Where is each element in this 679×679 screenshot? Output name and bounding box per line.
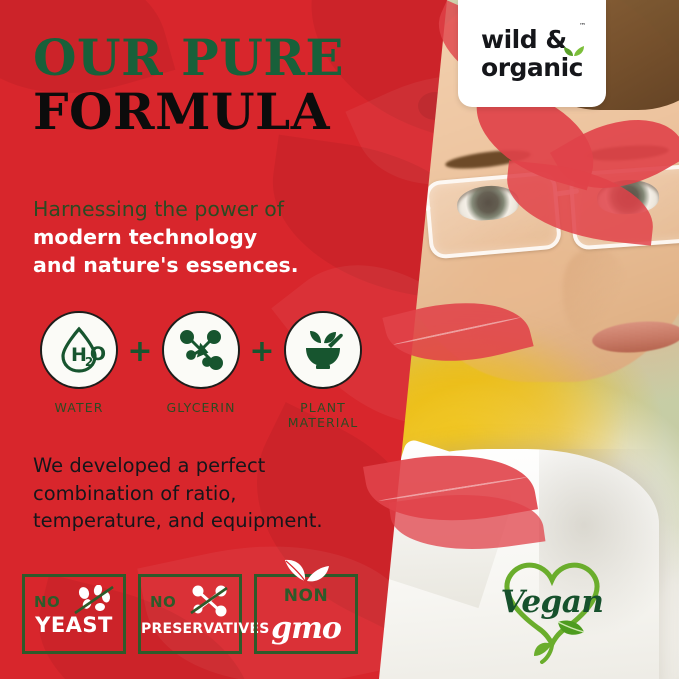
body-copy-line-3: temperature, and equipment. xyxy=(33,507,323,535)
crossed-out-molecule-icon xyxy=(189,585,229,622)
safety-glasses-icon xyxy=(419,166,679,266)
molecule-icon xyxy=(162,311,240,389)
body-copy: We developed a perfect combination of ra… xyxy=(33,452,323,535)
body-copy-line-2: combination of ratio, xyxy=(33,480,323,508)
badge-prefix: NO xyxy=(34,593,60,611)
ingredient-label: PLANT MATERIAL xyxy=(277,400,369,431)
glasses-lens-right xyxy=(568,163,679,250)
ingredient-label: GLYCERIN xyxy=(155,400,247,415)
page-title: OUR PURE FORMULA xyxy=(33,32,344,138)
certification-badges: NO YEAST NO xyxy=(22,574,358,654)
subheadline-line-3: and nature's essences. xyxy=(33,252,299,280)
subheadline-line-1: Harnessing the power of xyxy=(33,196,299,224)
ingredient-glycerin: GLYCERIN xyxy=(155,311,247,415)
vegan-label: Vegan xyxy=(486,584,618,620)
brand-logo[interactable]: wild & organic ™ xyxy=(458,0,606,107)
water-droplet-h2o-icon: H 2 O xyxy=(40,311,118,389)
vegan-badge: Vegan xyxy=(486,546,618,664)
plus-separator-1: + xyxy=(125,337,155,367)
glasses-lens-left xyxy=(424,170,562,259)
trademark-symbol: ™ xyxy=(579,22,586,30)
body-copy-line-1: We developed a perfect xyxy=(33,452,323,480)
badge-label: gmo xyxy=(257,611,355,646)
badge-non-gmo: NON gmo xyxy=(254,574,358,654)
product-infographic-poster: wild & organic ™ OUR PURE FORMULA Harnes… xyxy=(0,0,679,679)
left-content-column: OUR PURE FORMULA Harnessing the power of… xyxy=(0,0,430,679)
subheadline-line-2: modern technology xyxy=(33,224,299,252)
badge-prefix: NON xyxy=(257,586,355,606)
badge-no-yeast: NO YEAST xyxy=(22,574,126,654)
ingredient-water: H 2 O WATER xyxy=(33,311,125,415)
badge-prefix: NO xyxy=(150,593,176,611)
ingredient-plant-material: PLANT MATERIAL xyxy=(277,311,369,431)
badge-no-preservatives: NO PRESERVATIVES xyxy=(138,574,242,654)
badge-label: YEAST xyxy=(25,613,123,637)
ingredient-label-line-1: PLANT xyxy=(300,400,346,415)
badge-label: PRESERVATIVES xyxy=(141,621,239,637)
ingredient-list: H 2 O WATER + xyxy=(33,311,369,431)
leaf-icon xyxy=(563,43,585,66)
ingredient-label-line-2: MATERIAL xyxy=(288,415,359,430)
mortar-pestle-icon xyxy=(284,311,362,389)
leaves-icon xyxy=(279,555,333,590)
ingredient-label: WATER xyxy=(33,400,125,415)
subheadline: Harnessing the power of modern technolog… xyxy=(33,196,299,280)
headline-line-1: OUR PURE xyxy=(33,32,344,84)
headline-line-2: FORMULA xyxy=(33,86,344,138)
plus-separator-2: + xyxy=(247,337,277,367)
